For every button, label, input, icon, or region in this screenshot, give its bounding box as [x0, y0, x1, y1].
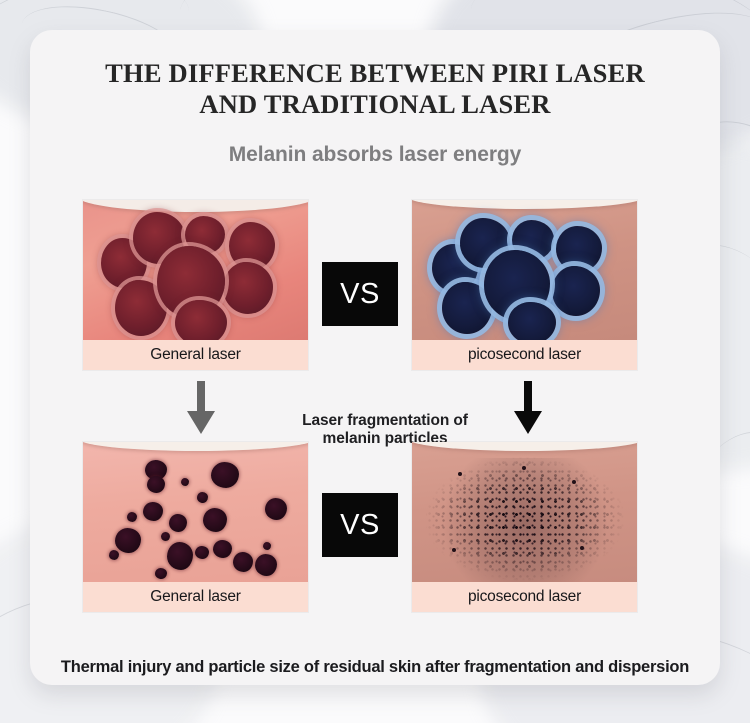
info-card: THE DIFFERENCE BETWEEN PIRI LASER AND TR…: [30, 30, 720, 685]
epidermis-layer: [83, 442, 308, 451]
melanin-dust-particle: [572, 480, 576, 484]
melanin-granule: [556, 226, 602, 272]
melanin-fragment: [147, 476, 165, 493]
down-arrow-gray-icon: [186, 381, 216, 435]
melanin-fragment: [143, 502, 163, 521]
page-title: THE DIFFERENCE BETWEEN PIRI LASER AND TR…: [30, 30, 720, 121]
melanin-dust-dispersed-art: [412, 442, 637, 582]
panel-bottom-general-laser: General laser: [83, 442, 308, 612]
melanin-fragment: [197, 492, 208, 503]
epidermis-layer: [412, 442, 637, 451]
vs-label: VS: [340, 278, 380, 311]
melanin-fragment: [155, 568, 167, 579]
down-arrow-black-icon: [513, 381, 543, 435]
melanin-dust-particle: [580, 546, 584, 550]
middle-caption-line-1: Laser fragmentation of: [302, 412, 468, 429]
melanin-dust-particle: [458, 472, 462, 476]
melanin-cluster-red-art: [83, 200, 308, 340]
melanin-dust-particle: [522, 466, 526, 470]
panel-top-picosecond-laser: picosecond laser: [412, 200, 637, 370]
melanin-fragment: [115, 528, 141, 553]
melanin-fragment: [213, 540, 232, 558]
melanin-fragments-coarse-art: [83, 442, 308, 582]
melanin-dust-speckles: [426, 454, 624, 582]
melanin-fragment: [109, 550, 119, 560]
vs-label: VS: [340, 509, 380, 542]
panel-bottom-picosecond-laser: picosecond laser: [412, 442, 637, 612]
melanin-granule: [508, 302, 556, 340]
melanin-granule: [552, 266, 600, 316]
page-subtitle: Melanin absorbs laser energy: [30, 121, 720, 167]
epidermis-layer: [83, 200, 308, 212]
melanin-cluster-blue-art: [412, 200, 637, 340]
melanin-fragment: [161, 532, 170, 541]
melanin-granule: [175, 300, 227, 340]
melanin-fragment: [167, 542, 193, 570]
page-title-line-1: THE DIFFERENCE BETWEEN PIRI LASER: [105, 58, 645, 88]
panel-caption: picosecond laser: [412, 582, 637, 612]
melanin-fragment: [233, 552, 253, 572]
melanin-fragment: [181, 478, 189, 486]
page-title-line-2: AND TRADITIONAL LASER: [199, 89, 550, 119]
panel-caption: General laser: [83, 582, 308, 612]
vs-badge-top: VS: [322, 262, 398, 326]
panel-top-general-laser: General laser: [83, 200, 308, 370]
vs-badge-bottom: VS: [322, 493, 398, 557]
melanin-fragment: [255, 554, 277, 576]
footer-caption: Thermal injury and particle size of resi…: [30, 658, 720, 677]
melanin-granule: [223, 262, 273, 314]
melanin-fragment: [203, 508, 227, 532]
melanin-fragment: [127, 512, 137, 522]
panel-caption: picosecond laser: [412, 340, 637, 370]
melanin-fragment: [211, 462, 239, 488]
melanin-fragment: [195, 546, 209, 559]
melanin-fragment: [265, 498, 287, 520]
melanin-fragment: [169, 514, 187, 532]
panel-caption: General laser: [83, 340, 308, 370]
melanin-fragment: [263, 542, 271, 550]
epidermis-layer: [412, 200, 637, 209]
melanin-dust-particle: [452, 548, 456, 552]
